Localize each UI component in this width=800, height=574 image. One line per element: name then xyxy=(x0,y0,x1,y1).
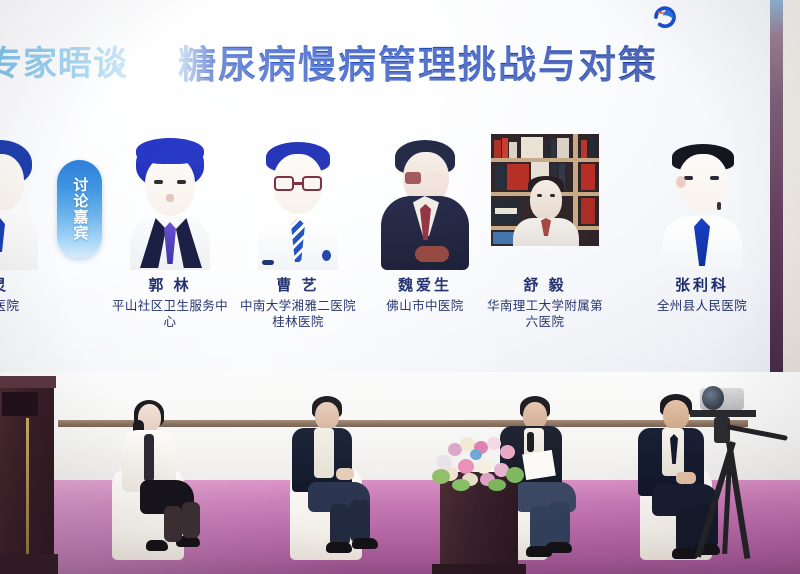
panelist-avatar xyxy=(114,132,226,270)
panelist-avatar xyxy=(489,132,601,270)
panelist-avatar xyxy=(242,132,354,270)
handheld-microphone xyxy=(527,432,534,452)
panelist-card: 舒 毅 华南理工大学附属第六医院 xyxy=(483,132,607,347)
slide-title-row: 专家晤谈 ✕ 糖尿病慢病管理挑战与对策 xyxy=(0,34,770,92)
panelist-org: 医医院 xyxy=(0,298,62,314)
panelist-avatar xyxy=(0,132,56,270)
panelist-card: 郭 林 平山社区卫生服务中心 xyxy=(108,132,232,347)
panelist-card: 曹 艺 中南大学湘雅二医院桂林医院 xyxy=(236,132,360,347)
podium-base xyxy=(0,554,58,574)
panelist-name: 曹 艺 xyxy=(236,274,360,295)
podium-panel xyxy=(2,392,38,416)
panelist-org: 平山社区卫生服务中心 xyxy=(108,298,232,331)
panelist-photo xyxy=(491,134,599,246)
panelist-name: 郭 林 xyxy=(108,274,232,295)
panelist-name: 舒 毅 xyxy=(483,274,607,295)
panelist-avatar xyxy=(369,132,481,270)
panelist-org: 佛山市中医院 xyxy=(363,298,487,314)
panelist-name: 张利科 xyxy=(640,274,764,295)
podium-top xyxy=(0,376,56,388)
panelist-org: 华南理工大学附属第六医院 xyxy=(483,298,607,331)
panelist-avatar xyxy=(646,132,758,270)
panelist-org: 中南大学湘雅二医院桂林医院 xyxy=(236,298,360,331)
panelist-org: 全州县人民医院 xyxy=(640,298,764,314)
camera-lens-icon xyxy=(702,386,724,410)
panelist-name: 魏爱生 xyxy=(363,274,487,295)
conference-stage-photo: 专家晤谈 ✕ 糖尿病慢病管理挑战与对策 讨论嘉宾 灵 xyxy=(0,0,800,574)
flower-arrangement xyxy=(432,435,528,487)
panelist-name: 灵 xyxy=(0,274,62,295)
camera-mount-plate xyxy=(690,410,756,417)
panelist-card: 灵 医医院 xyxy=(0,132,62,347)
flower-pedestal-base xyxy=(432,564,526,574)
panelist-strip: 灵 医医院 xyxy=(0,132,770,347)
panelist-card: 张利科 全州县人民医院 xyxy=(640,132,764,347)
slide-title-main: 糖尿病慢病管理挑战与对策 xyxy=(178,34,658,89)
screen-right-bezel xyxy=(770,0,783,395)
tripod-head xyxy=(714,417,730,443)
stage-area xyxy=(0,372,800,574)
panelist-card: 魏爱生 佛山市中医院 xyxy=(363,132,487,347)
blue-circular-logo-icon xyxy=(650,2,680,32)
title-decoration-icon: ✕ xyxy=(108,56,130,74)
right-wall xyxy=(783,0,800,400)
podium-microphone-stand xyxy=(26,418,29,558)
projection-screen: 专家晤谈 ✕ 糖尿病慢病管理挑战与对策 讨论嘉宾 灵 xyxy=(0,0,770,372)
